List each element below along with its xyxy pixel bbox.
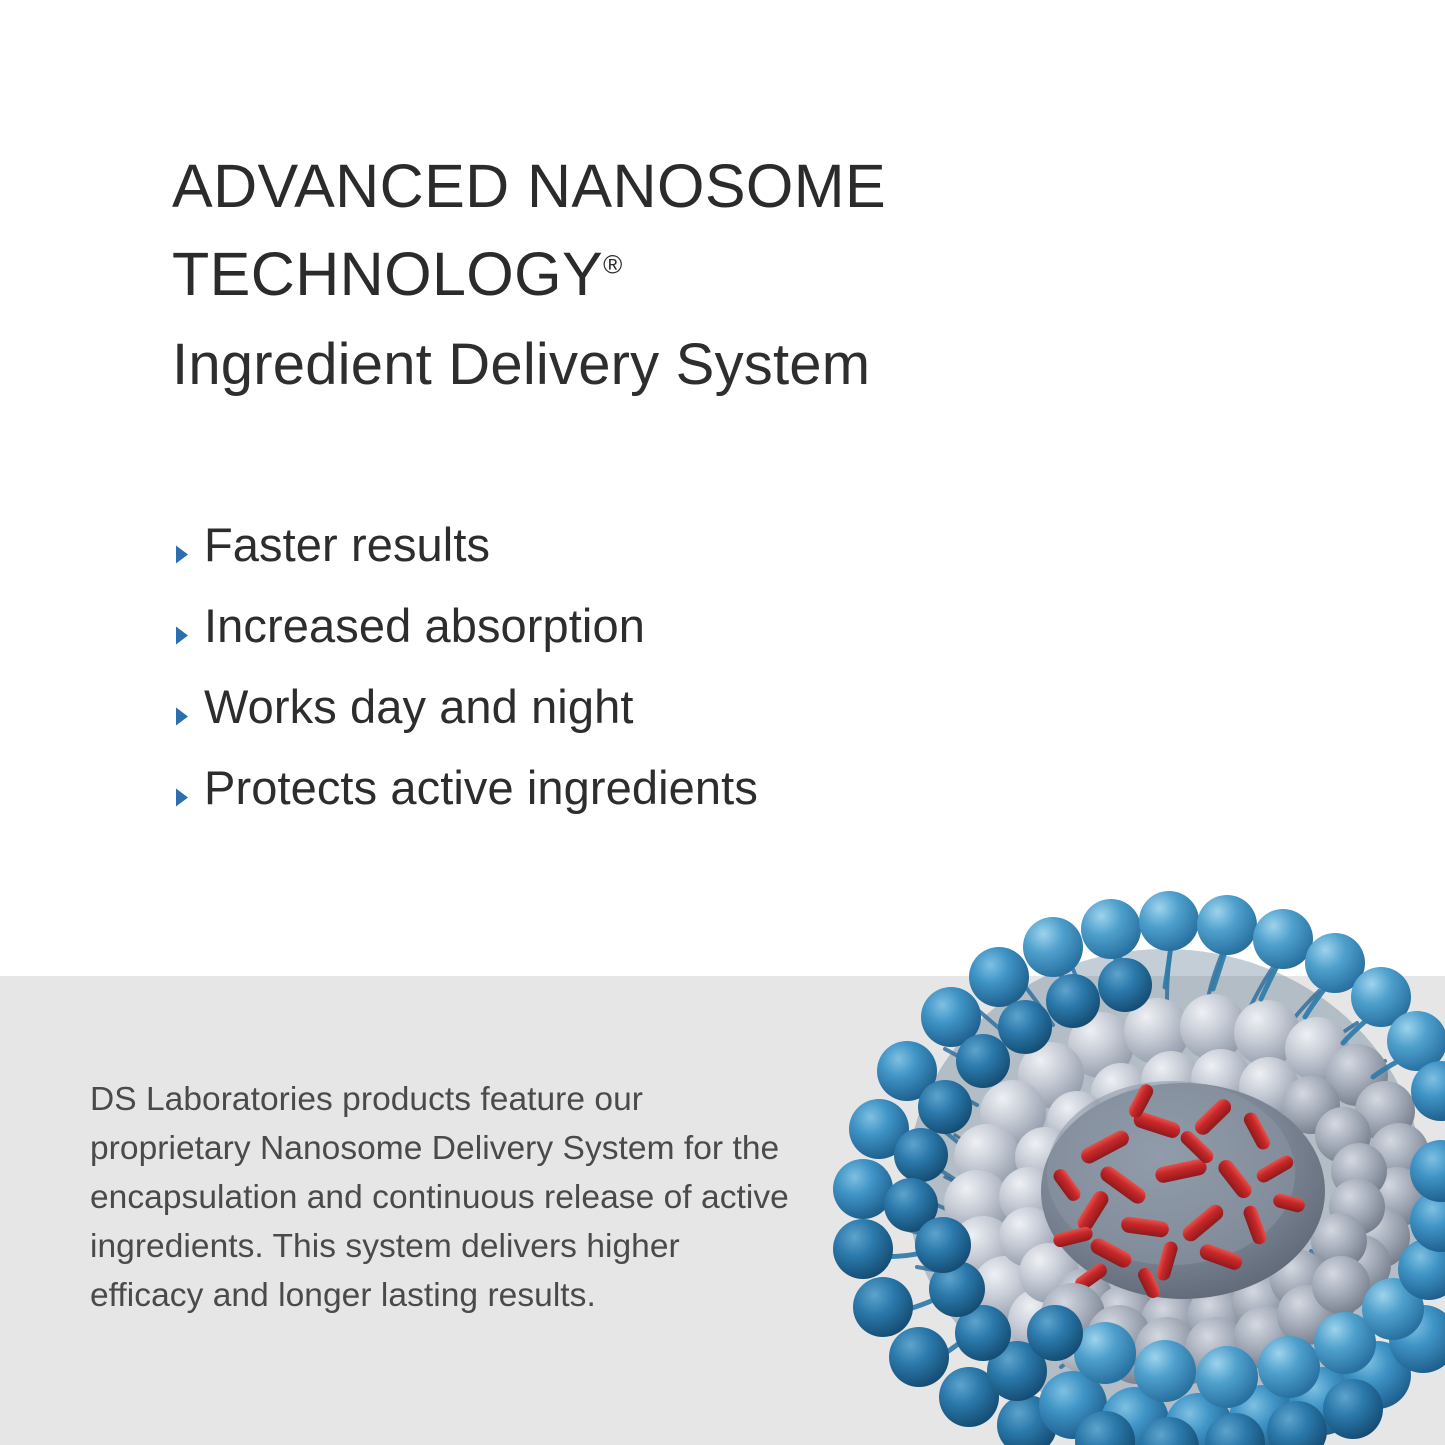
description-paragraph: DS Laboratories products feature our pro… — [90, 1075, 790, 1320]
feature-label: Increased absorption — [204, 600, 645, 652]
list-item: Works day and night — [174, 681, 1074, 762]
feature-label: Works day and night — [204, 681, 634, 733]
list-item: Faster results — [174, 519, 1074, 600]
triangle-right-icon — [174, 625, 190, 646]
page-title: ADVANCED NANOSOME TECHNOLOGY® — [172, 142, 1092, 318]
page-subtitle: Ingredient Delivery System — [172, 328, 1092, 402]
triangle-right-icon — [174, 706, 190, 727]
registered-trademark-symbol: ® — [603, 250, 622, 280]
feature-label: Faster results — [204, 519, 490, 571]
header-block: ADVANCED NANOSOME TECHNOLOGY® Ingredient… — [172, 142, 1092, 402]
list-item: Protects active ingredients — [174, 762, 1074, 843]
feature-label: Protects active ingredients — [204, 762, 758, 814]
feature-list: Faster results Increased absorption Work… — [174, 519, 1074, 843]
list-item: Increased absorption — [174, 600, 1074, 681]
headline-line-1: ADVANCED NANOSOME — [172, 152, 886, 220]
headline-line-2: TECHNOLOGY — [172, 240, 603, 308]
triangle-right-icon — [174, 544, 190, 565]
nanosome-technology-card: ADVANCED NANOSOME TECHNOLOGY® Ingredient… — [0, 0, 1445, 1445]
triangle-right-icon — [174, 787, 190, 808]
